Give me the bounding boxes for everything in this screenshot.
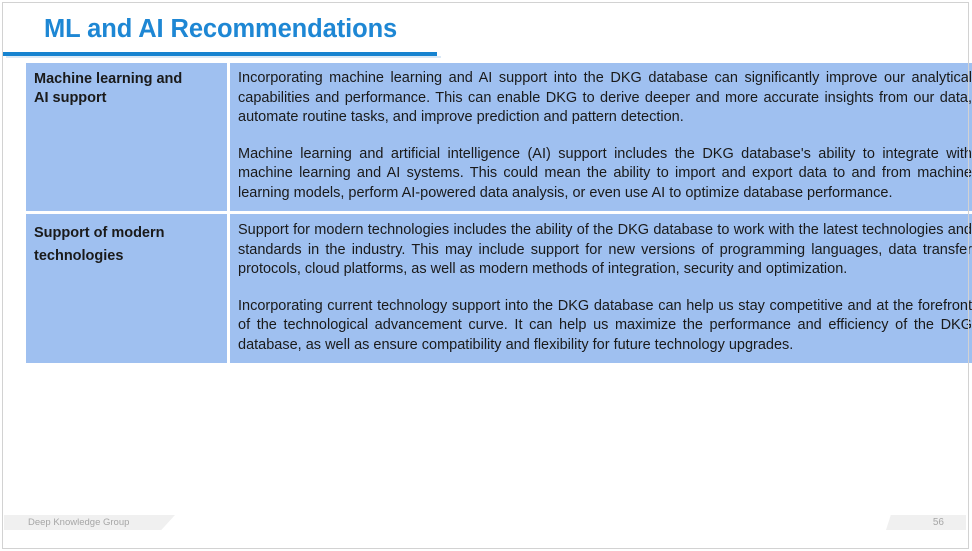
footer-organization-label: Deep Knowledge Group	[28, 516, 129, 529]
body-paragraph: Incorporating machine learning and AI su…	[238, 69, 972, 128]
row-label-cell: Support of modern technologies	[26, 214, 230, 363]
row-body-cell: Support for modern technologies includes…	[230, 214, 972, 363]
footer-organization-band: Deep Knowledge Group	[4, 515, 175, 530]
body-paragraph: Support for modern technologies includes…	[238, 221, 972, 280]
row-label-line: AI support	[34, 89, 219, 108]
page-number: 56	[933, 516, 944, 529]
table-row: Machine learning and AI support Incorpor…	[26, 63, 972, 214]
row-label-cell: Machine learning and AI support	[26, 63, 230, 214]
row-label-line: technologies	[34, 245, 219, 268]
body-paragraph: Machine learning and artificial intellig…	[238, 145, 972, 204]
row-label-line: Machine learning and	[34, 70, 219, 89]
body-paragraph: Incorporating current technology support…	[238, 297, 972, 356]
title-underline-shadow	[6, 56, 441, 58]
row-label-line: Support of modern	[34, 222, 219, 245]
recommendations-table: Machine learning and AI support Incorpor…	[26, 63, 972, 363]
page-title: ML and AI Recommendations	[44, 14, 397, 44]
row-body-cell: Incorporating machine learning and AI su…	[230, 63, 972, 214]
footer-page-number-band: 56	[886, 515, 966, 530]
table-row: Support of modern technologies Support f…	[26, 214, 972, 363]
slide-title-block: ML and AI Recommendations	[0, 14, 440, 56]
slide-canvas: ML and AI Recommendations Machine learni…	[0, 0, 972, 551]
